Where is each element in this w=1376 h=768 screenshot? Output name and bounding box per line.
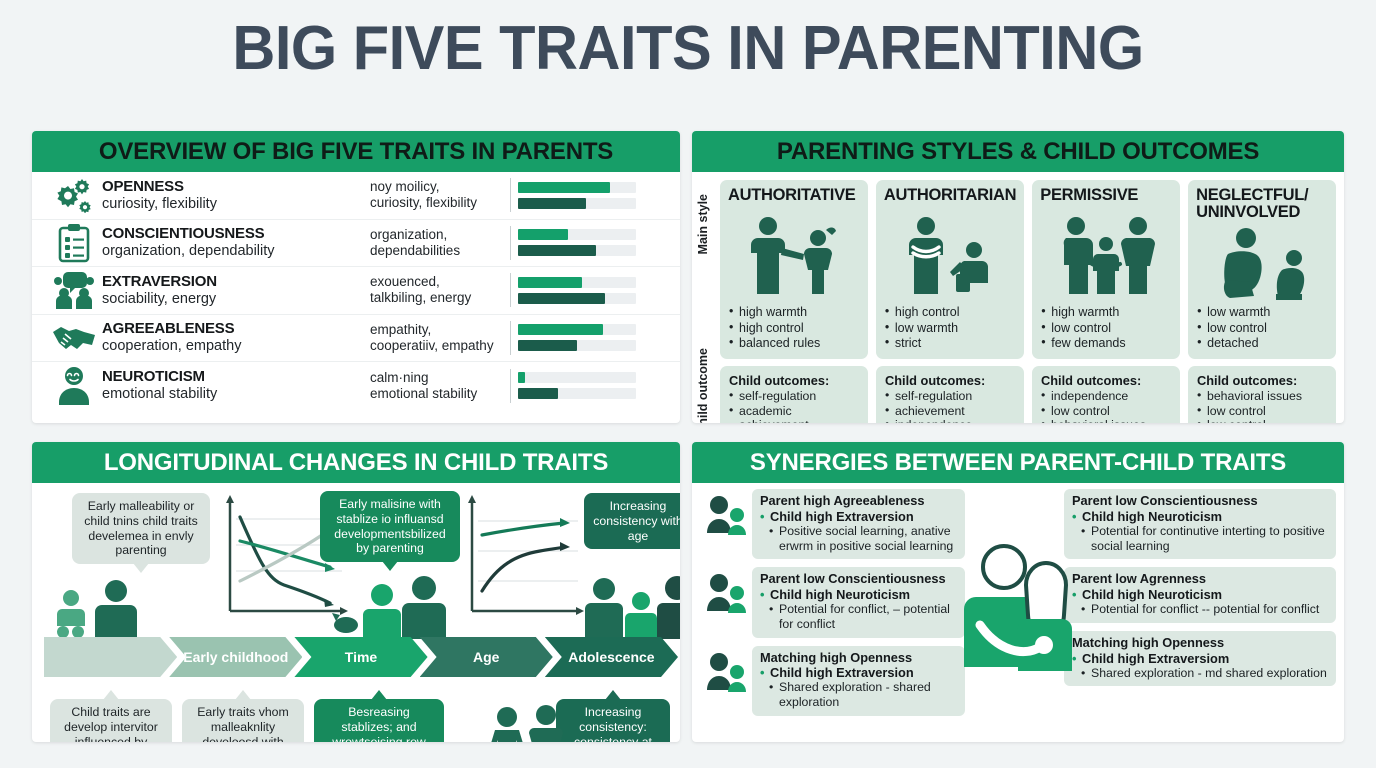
outcome-item: behavioral issues (1197, 389, 1328, 404)
synergy-item[interactable]: Parent low ConscientiousnessChild high N… (1064, 489, 1336, 559)
panel-synergies: SYNERGIES BETWEEN PARENT-CHILD TRAITS Pa… (692, 442, 1344, 742)
callout-tail (103, 690, 119, 700)
trait-desc-line-2: talkbiling, energy (370, 290, 510, 306)
outcome-item: independence (885, 418, 1016, 423)
outcome-item: low control (1197, 418, 1328, 423)
style-card-title: NEGLECTFUL/ UNINVOLVED (1196, 187, 1328, 221)
crossed-arms-parent-kneeling-child-icon (884, 204, 1016, 305)
parent-embracing-child-icon (964, 541, 1074, 691)
callout-tail (235, 690, 251, 700)
callout-text: Increasing consistency: consistency at a… (568, 705, 659, 742)
outcome-item: self-regulation (729, 389, 860, 404)
trait-subtitle: cooperation, empathy (102, 338, 370, 354)
trait-desc-line-1: noy moilicy, (370, 179, 510, 195)
synergy-heading: Parent high Agreeableness (760, 494, 957, 509)
outcome-title: Child outcomes: (885, 373, 1016, 388)
timeline-bottom-callouts: Child traits are develop intervitor infl… (44, 687, 670, 742)
timeline-chevron[interactable]: Adolescence (545, 637, 678, 677)
outcome-item: achievement (729, 418, 860, 423)
bar-track (518, 277, 636, 288)
style-trait-list: high warmthlow controlfew demands (1040, 305, 1172, 351)
callout-text: Early malleability or child tnins child … (84, 499, 197, 557)
trait-names: CONSCIENTIOUSNESSorganization, dependabi… (102, 226, 370, 259)
style-trait-item: low warmth (1196, 305, 1328, 320)
trait-row: CONSCIENTIOUSNESSorganization, dependabi… (32, 220, 680, 268)
axis-label-main-style: Main style (696, 194, 710, 254)
timeline-callout: Besreasing stablizes; and wrowtsoising r… (314, 699, 444, 742)
handshake-icon (46, 322, 102, 354)
synergy-heading: Parent low Conscientiousness (1072, 494, 1328, 509)
style-trait-list: high warmthhigh controlbalanced rules (728, 305, 860, 351)
callout-early-stabilize: Early malisine with stablize io influans… (320, 491, 460, 562)
style-trait-item: high warmth (728, 305, 860, 320)
outcome-card[interactable]: Child outcomes:behavioral issueslow cont… (1188, 366, 1336, 423)
bar-track (518, 198, 636, 209)
style-trait-item: high warmth (1040, 305, 1172, 320)
parent-child-avatar-icon (700, 567, 752, 617)
bar-track (518, 324, 636, 335)
trait-bar-pair (510, 178, 672, 212)
trait-bar-pair (510, 226, 672, 260)
synergy-subheading: Child high Extraversiom (1072, 651, 1328, 666)
family-holding-hands-icon (1040, 204, 1172, 305)
bar-fill-secondary (518, 340, 577, 351)
synergy-bullet: Potential for continutive interting to p… (1072, 524, 1328, 554)
bar-track (518, 372, 636, 383)
clipboard-checklist-icon (46, 223, 102, 263)
elderly-couple-figures-icon (482, 705, 572, 742)
trait-description: empathity,cooperatiiv, empathy (370, 322, 510, 354)
timeline-chevron[interactable]: Time (294, 637, 427, 677)
synergy-bullet: Potential for conflict -- potential for … (1072, 602, 1328, 617)
synergy-item[interactable]: Matching high OpennessChild high Extrave… (1064, 631, 1336, 687)
callout-tail (371, 690, 387, 700)
parent-pointing-to-child-icon (728, 204, 860, 305)
callout-early-malleability: Early malleability or child tnins child … (72, 493, 210, 564)
synergy-subheading: Child high Neuroticism (1072, 587, 1328, 602)
synergy-heading: Parent low Agrenness (1072, 572, 1328, 587)
trait-description: exouenced,talkbiling, energy (370, 274, 510, 306)
page-title: BIG FIVE TRAITS IN PARENTING (28, 18, 1349, 80)
outcome-title: Child outcomes: (1197, 373, 1328, 388)
gears-icon (46, 177, 102, 213)
outcome-list: behavioral issueslow controllow controld… (1197, 389, 1328, 423)
style-card[interactable]: AUTHORITATIVEhigh warmthhigh controlbala… (720, 180, 868, 359)
bar-fill-secondary (518, 388, 558, 399)
synergy-heading: Matching high Openness (760, 651, 957, 666)
increasing-traits-line-chart (464, 493, 584, 621)
style-card[interactable]: NEGLECTFUL/ UNINVOLVEDlow warmthlow cont… (1188, 180, 1336, 359)
panel-parenting-styles: PARENTING STYLES & CHILD OUTCOMES Main s… (692, 131, 1344, 423)
synergy-subheading: Child high Neuroticism (1072, 509, 1328, 524)
synergy-bullet: Positive social learning, anative erwrm … (760, 524, 957, 554)
bar-track (518, 182, 636, 193)
callout-tail (382, 561, 398, 571)
callout-text: Child traits are develop intervitor infl… (64, 705, 158, 742)
outcome-item: low control (1197, 404, 1328, 419)
synergy-box: Matching high OpennessChild high Extrave… (1064, 631, 1336, 687)
timeline-chevron[interactable]: Early childhood (169, 637, 302, 677)
timeline-chevron[interactable] (44, 637, 177, 677)
bar-fill-secondary (518, 198, 586, 209)
callout-text: Besreasing stablizes; and wrowtsoising r… (327, 705, 430, 742)
synergy-bullet: Potential for conflict, – potential for … (760, 602, 957, 632)
callout-tail (605, 690, 621, 700)
style-trait-item: detached (1196, 336, 1328, 351)
trait-title: NEUROTICISM (102, 369, 370, 386)
trait-title: EXTRAVERSION (102, 274, 370, 291)
synergy-subheading: Child high Extraversion (760, 509, 957, 524)
trait-bar-pair (510, 273, 672, 307)
callout-text: Early traits vhom malleaknlity develoosd… (197, 705, 289, 742)
style-card[interactable]: AUTHORITARIANhigh controllow warmthstric… (876, 180, 1024, 359)
axis-label-child-outcome: Child outcome (696, 348, 710, 423)
baby-and-adult-figures-icon (54, 578, 164, 640)
trait-names: AGREEABLENESScooperation, empathy (102, 321, 370, 354)
bar-fill-primary (518, 229, 568, 240)
synergy-heading: Matching high Openness (1072, 636, 1328, 651)
outcome-item: self-regulation (885, 389, 1016, 404)
outcome-card[interactable]: Child outcomes:self-regulationacademicac… (720, 366, 868, 423)
synergy-item[interactable]: Parent low ConscientiousnessChild high N… (700, 567, 965, 637)
style-trait-item: high control (884, 305, 1016, 320)
bar-track (518, 293, 636, 304)
synergy-box: Matching high OpennessChild high Extrave… (752, 646, 965, 716)
synergy-heading: Parent low Conscientiousness (760, 572, 957, 587)
outcome-item: low control (1041, 404, 1172, 419)
style-card-title: PERMISSIVE (1040, 187, 1172, 204)
style-card[interactable]: PERMISSIVEhigh warmthlow controlfew dema… (1032, 180, 1180, 359)
panel-longitudinal-header: LONGITUDINAL CHANGES IN CHILD TRAITS (32, 442, 680, 483)
synergy-box: Parent high AgreeablenessChild high Extr… (752, 489, 965, 559)
bar-fill-primary (518, 182, 610, 193)
trait-subtitle: organization, dependability (102, 243, 370, 259)
panel-overview-header: OVERVIEW OF BIG FIVE TRAITS IN PARENTS (32, 131, 680, 172)
outcome-item: achievement (885, 404, 1016, 419)
style-trait-list: high controllow warmthstrict (884, 305, 1016, 351)
trait-row: NEUROTICISMemotional stabilitycalm·ninge… (32, 362, 680, 410)
style-trait-item: strict (884, 336, 1016, 351)
synergy-subheading: Child high Neuroticism (760, 587, 957, 602)
trait-description: calm·ningemotional stability (370, 370, 510, 402)
styles-axis-labels: Main style Child outcome (696, 180, 720, 423)
trait-description: noy moilicy,curiosity, flexibility (370, 179, 510, 211)
trait-desc-line-1: exouenced, (370, 274, 510, 290)
style-trait-item: balanced rules (728, 336, 860, 351)
turned-away-parent-child-icon (1196, 221, 1328, 305)
trait-names: NEUROTICISMemotional stability (102, 369, 370, 402)
style-trait-item: high control (728, 321, 860, 336)
outcome-item: behavioral issues (1041, 418, 1172, 423)
synergy-bullet: Shared exploration - shared exploration (760, 680, 957, 710)
synergies-left-column: Parent high AgreeablenessChild high Extr… (700, 489, 965, 724)
trait-row: AGREEABLENESScooperation, empathyempathi… (32, 315, 680, 363)
trait-description: organization,dependabilities (370, 227, 510, 259)
style-card-title: AUTHORITARIAN (884, 187, 1016, 204)
trait-title: OPENNESS (102, 179, 370, 196)
bar-fill-secondary (518, 245, 596, 256)
trait-row: EXTRAVERSIONsociability, energyexouenced… (32, 267, 680, 315)
timeline-callout: Early traits vhom malleaknlity develoosd… (182, 699, 304, 742)
trait-subtitle: curiosity, flexibility (102, 196, 370, 212)
parent-child-avatar-icon (700, 646, 752, 696)
bar-track (518, 388, 636, 399)
panel-longitudinal-changes: LONGITUDINAL CHANGES IN CHILD TRAITS Ear… (32, 442, 680, 742)
trait-bar-pair (510, 321, 672, 355)
infographic-page: BIG FIVE TRAITS IN PARENTING OVERVIEW OF… (0, 0, 1376, 768)
overview-trait-list: OPENNESScuriosity, flexibilitynoy moilic… (32, 172, 680, 410)
outcome-list: independencelow controlbehavioral issues (1041, 389, 1172, 423)
people-talking-icon (46, 271, 102, 309)
bar-fill-primary (518, 372, 525, 383)
style-trait-item: few demands (1040, 336, 1172, 351)
panel-overview-big-five: OVERVIEW OF BIG FIVE TRAITS IN PARENTS O… (32, 131, 680, 423)
callout-tail (133, 563, 149, 573)
trait-title: CONSCIENTIOUSNESS (102, 226, 370, 243)
trait-desc-line-1: calm·ning (370, 370, 510, 386)
outcome-card[interactable]: Child outcomes:self-regulationachievemen… (876, 366, 1024, 423)
style-trait-list: low warmthlow controldetached (1196, 305, 1328, 351)
trait-bar-pair (510, 369, 672, 403)
trait-names: OPENNESScuriosity, flexibility (102, 179, 370, 212)
style-trait-item: low warmth (884, 321, 1016, 336)
style-card-title: AUTHORITATIVE (728, 187, 860, 204)
outcome-list: self-regulationacademicachievementindepe… (729, 389, 860, 423)
trait-desc-line-2: cooperatiiv, empathy (370, 338, 510, 354)
trait-subtitle: sociability, energy (102, 291, 370, 307)
callout-text: Increasing consistency with age (593, 499, 680, 543)
family-with-pet-figures-icon (332, 575, 452, 640)
outcome-title: Child outcomes: (1041, 373, 1172, 388)
timeline-chevrons: Early childhoodTimeAgeAdolescence (44, 637, 670, 677)
timeline-callout: Increasing consistency: consistency at a… (556, 699, 670, 742)
outcome-item: independence (1041, 389, 1172, 404)
bar-fill-primary (518, 277, 582, 288)
outcome-cards-grid: Child outcomes:self-regulationacademicac… (720, 366, 1336, 423)
synergy-subheading: Child high Extraversion (760, 665, 957, 680)
panel-synergies-header: SYNERGIES BETWEEN PARENT-CHILD TRAITS (692, 442, 1344, 483)
trait-desc-line-1: organization, (370, 227, 510, 243)
synergy-item[interactable]: Matching high OpennessChild high Extrave… (700, 646, 965, 716)
trait-desc-line-2: curiosity, flexibility (370, 195, 510, 211)
calm-person-icon (46, 366, 102, 406)
styles-body: Main style Child outcome AUTHORITATIVEhi… (692, 172, 1344, 423)
trait-names: EXTRAVERSIONsociability, energy (102, 274, 370, 307)
bar-fill-secondary (518, 293, 605, 304)
panel-styles-header: PARENTING STYLES & CHILD OUTCOMES (692, 131, 1344, 172)
synergy-item[interactable]: Parent high AgreeablenessChild high Extr… (700, 489, 965, 559)
trait-title: AGREEABLENESS (102, 321, 370, 338)
trait-row: OPENNESScuriosity, flexibilitynoy moilic… (32, 172, 680, 220)
family-holding-hands-figures-icon (582, 575, 680, 640)
style-cards-grid: AUTHORITATIVEhigh warmthhigh controlbala… (720, 180, 1336, 359)
style-trait-item: low control (1040, 321, 1172, 336)
bar-track (518, 229, 636, 240)
longitudinal-body: Early malleability or child tnins child … (32, 483, 680, 742)
synergy-box: Parent low ConscientiousnessChild high N… (752, 567, 965, 637)
synergies-right-column: Parent low ConscientiousnessChild high N… (1064, 489, 1336, 694)
outcome-card[interactable]: Child outcomes:independencelow controlbe… (1032, 366, 1180, 423)
outcome-title: Child outcomes: (729, 373, 860, 388)
synergies-body: Parent high AgreeablenessChild high Extr… (692, 483, 1344, 742)
callout-text: Early malisine with stablize io influans… (334, 497, 445, 555)
synergy-box: Parent low AgrennessChild high Neurotici… (1064, 567, 1336, 623)
trait-desc-line-1: empathity, (370, 322, 510, 338)
timeline-callout: Child traits are develop intervitor infl… (50, 699, 172, 742)
trait-desc-line-2: emotional stability (370, 386, 510, 402)
outcome-list: self-regulationachievementindependencebe… (885, 389, 1016, 423)
outcome-item: academic (729, 404, 860, 419)
trait-subtitle: emotional stability (102, 386, 370, 402)
parent-child-avatar-icon (700, 489, 752, 539)
bar-track (518, 340, 636, 351)
synergy-bullet: Shared exploration - md shared explorati… (1072, 666, 1328, 681)
synergy-item[interactable]: Parent low AgrennessChild high Neurotici… (1064, 567, 1336, 623)
bar-track (518, 245, 636, 256)
bar-fill-primary (518, 324, 603, 335)
timeline-chevron[interactable]: Age (420, 637, 553, 677)
style-trait-item: low control (1196, 321, 1328, 336)
trait-desc-line-2: dependabilities (370, 243, 510, 259)
callout-increasing-consistency: Increasing consistency with age (584, 493, 680, 549)
synergy-box: Parent low ConscientiousnessChild high N… (1064, 489, 1336, 559)
